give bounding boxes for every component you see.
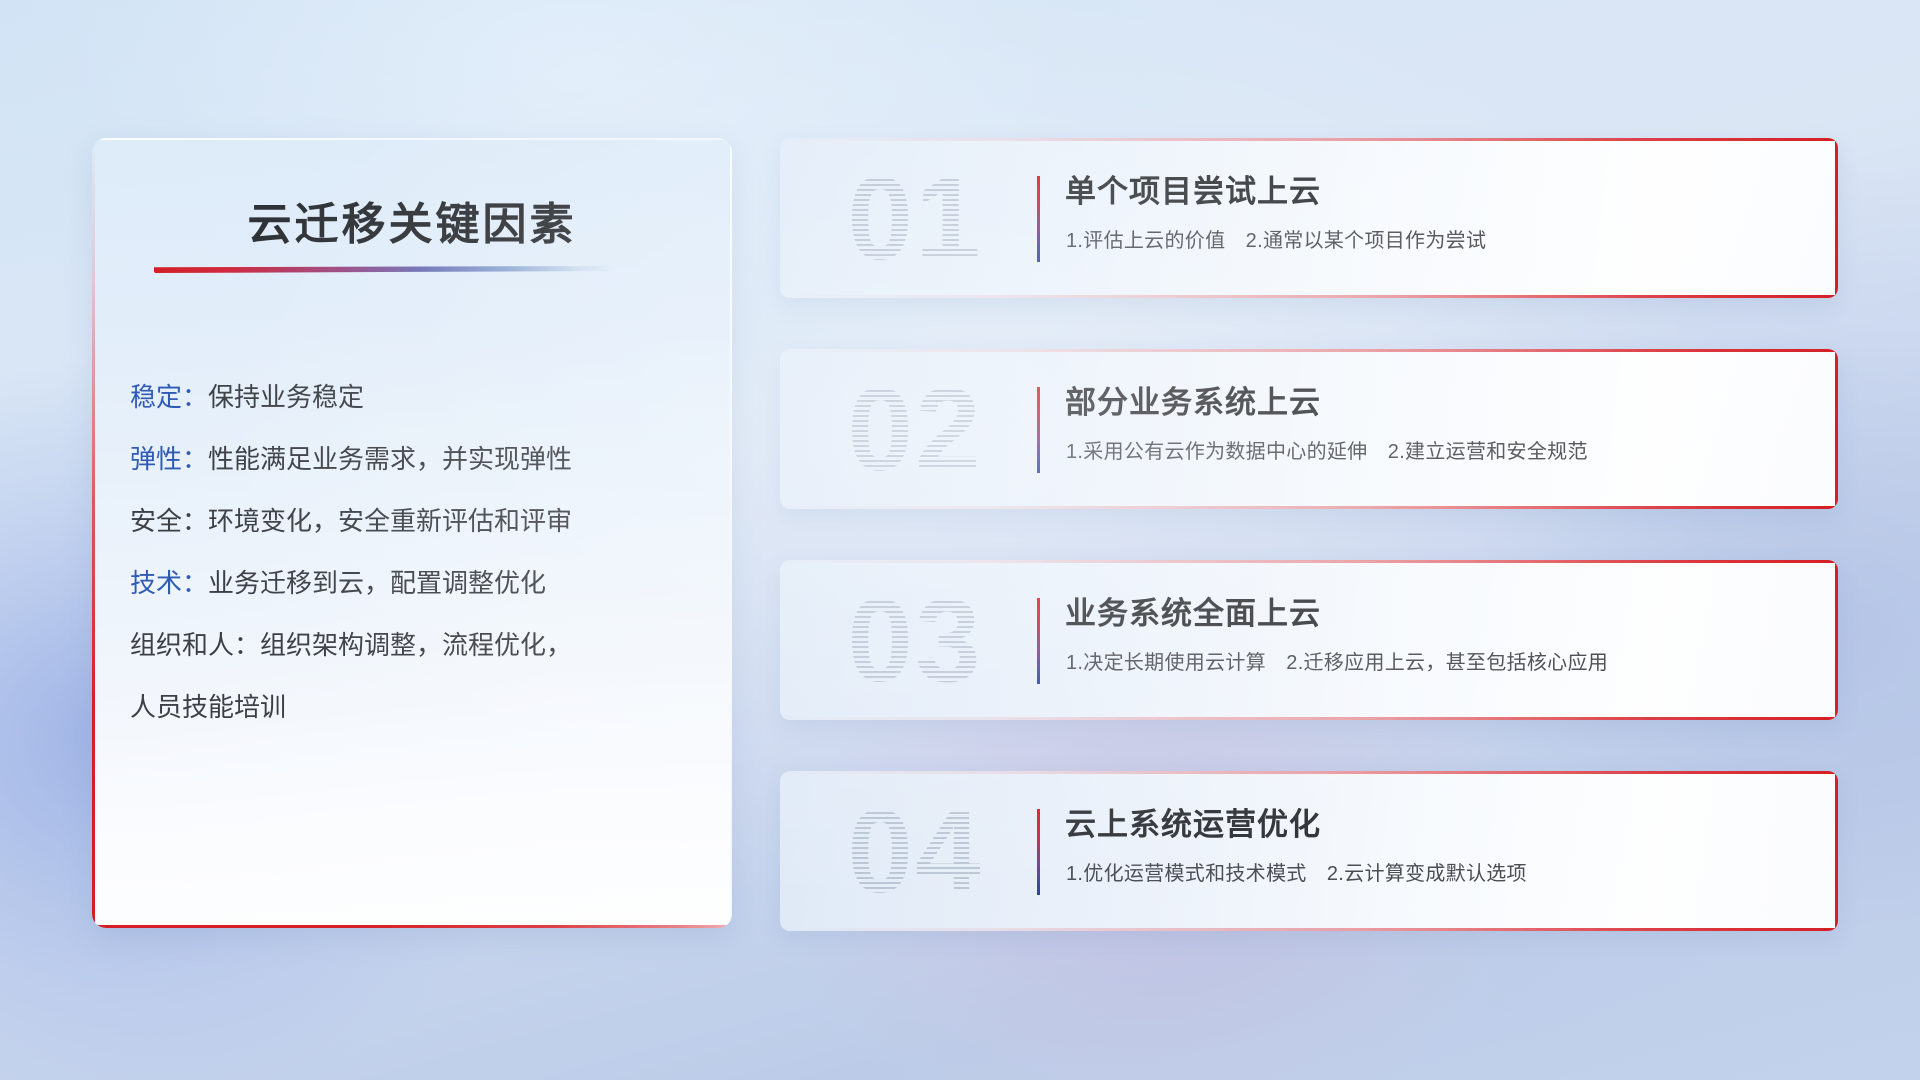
stage-subtitle: 1.优化运营模式和技术模式 2.云计算变成默认选项 — [1066, 857, 1527, 886]
factor-value: 业务迁移到云，配置调整优化 — [208, 568, 546, 598]
list-item: 人员技能培训 — [130, 676, 704, 738]
factor-value: 性能满足业务需求，并实现弹性 — [208, 444, 572, 474]
list-item: 稳定：保持业务稳定 — [130, 366, 704, 428]
list-item: 组织和人：组织架构调整，流程优化， — [130, 614, 704, 676]
card-top-accent-border — [780, 771, 1838, 774]
panel-top-edge — [92, 138, 732, 140]
stage-title: 云上系统运营优化 — [1065, 799, 1321, 844]
stage-accent-bar — [1037, 176, 1040, 262]
stage-card-03[interactable]: 03 业务系统全面上云 1.决定长期使用云计算 2.迁移应用上云，甚至包括核心应… — [780, 560, 1838, 720]
card-bottom-accent-border — [780, 717, 1838, 720]
stage-subtitle: 1.评估上云的价值 2.通常以某个项目作为尝试 — [1066, 224, 1486, 253]
card-right-accent-border — [1835, 771, 1838, 931]
card-bottom-accent-border — [780, 506, 1838, 509]
card-top-accent-border — [780, 560, 1838, 563]
list-item: 技术：业务迁移到云，配置调整优化 — [130, 552, 704, 614]
stage-number-watermark: 02 — [810, 355, 1020, 505]
stage-number-watermark: 01 — [810, 144, 1020, 294]
key-factors-panel: 云迁移关键因素 稳定：保持业务稳定 弹性：性能满足业务需求，并实现弹性 安全：环… — [92, 138, 732, 928]
stage-card-01[interactable]: 01 单个项目尝试上云 1.评估上云的价值 2.通常以某个项目作为尝试 — [780, 138, 1838, 298]
card-top-accent-border — [780, 138, 1838, 141]
list-item: 弹性：性能满足业务需求，并实现弹性 — [130, 428, 704, 490]
card-bottom-accent-border — [780, 295, 1838, 298]
stage-number-watermark: 04 — [810, 777, 1020, 927]
stage-accent-bar — [1037, 387, 1040, 473]
factor-value: 人员技能培训 — [130, 692, 286, 722]
key-factors-list: 稳定：保持业务稳定 弹性：性能满足业务需求，并实现弹性 安全：环境变化，安全重新… — [130, 366, 704, 738]
stage-title: 部分业务系统上云 — [1065, 377, 1321, 422]
stage-title: 业务系统全面上云 — [1065, 588, 1321, 633]
card-right-accent-border — [1835, 349, 1838, 509]
factor-value: 组织架构调整，流程优化， — [260, 630, 572, 660]
factor-label: 弹性： — [130, 444, 208, 474]
stage-title: 单个项目尝试上云 — [1065, 166, 1321, 211]
stage-card-list: 01 单个项目尝试上云 1.评估上云的价值 2.通常以某个项目作为尝试 02 部… — [780, 138, 1838, 931]
card-right-accent-border — [1835, 560, 1838, 720]
card-top-accent-border — [780, 349, 1838, 352]
slide-root: 云迁移关键因素 稳定：保持业务稳定 弹性：性能满足业务需求，并实现弹性 安全：环… — [0, 0, 1920, 1080]
panel-right-edge — [730, 138, 732, 928]
factor-value: 保持业务稳定 — [208, 382, 364, 412]
stage-subtitle: 1.采用公有云作为数据中心的延伸 2.建立运营和安全规范 — [1066, 435, 1588, 464]
factor-label: 安全： — [130, 506, 208, 536]
factor-label: 技术： — [130, 568, 208, 598]
factor-value: 环境变化，安全重新评估和评审 — [208, 506, 572, 536]
panel-title: 云迁移关键因素 — [92, 188, 732, 252]
stage-accent-bar — [1037, 809, 1040, 895]
title-underline-gradient — [154, 266, 614, 273]
panel-bottom-accent-border — [92, 925, 732, 928]
factor-label: 组织和人： — [130, 630, 260, 660]
stage-card-02[interactable]: 02 部分业务系统上云 1.采用公有云作为数据中心的延伸 2.建立运营和安全规范 — [780, 349, 1838, 509]
stage-subtitle: 1.决定长期使用云计算 2.迁移应用上云，甚至包括核心应用 — [1066, 646, 1608, 675]
card-right-accent-border — [1835, 138, 1838, 298]
list-item: 安全：环境变化，安全重新评估和评审 — [130, 490, 704, 552]
stage-accent-bar — [1037, 598, 1040, 684]
card-bottom-accent-border — [780, 928, 1838, 931]
stage-number-watermark: 03 — [810, 566, 1020, 716]
panel-left-accent-border — [92, 138, 95, 928]
stage-card-04[interactable]: 04 云上系统运营优化 1.优化运营模式和技术模式 2.云计算变成默认选项 — [780, 771, 1838, 931]
factor-label: 稳定： — [130, 382, 208, 412]
